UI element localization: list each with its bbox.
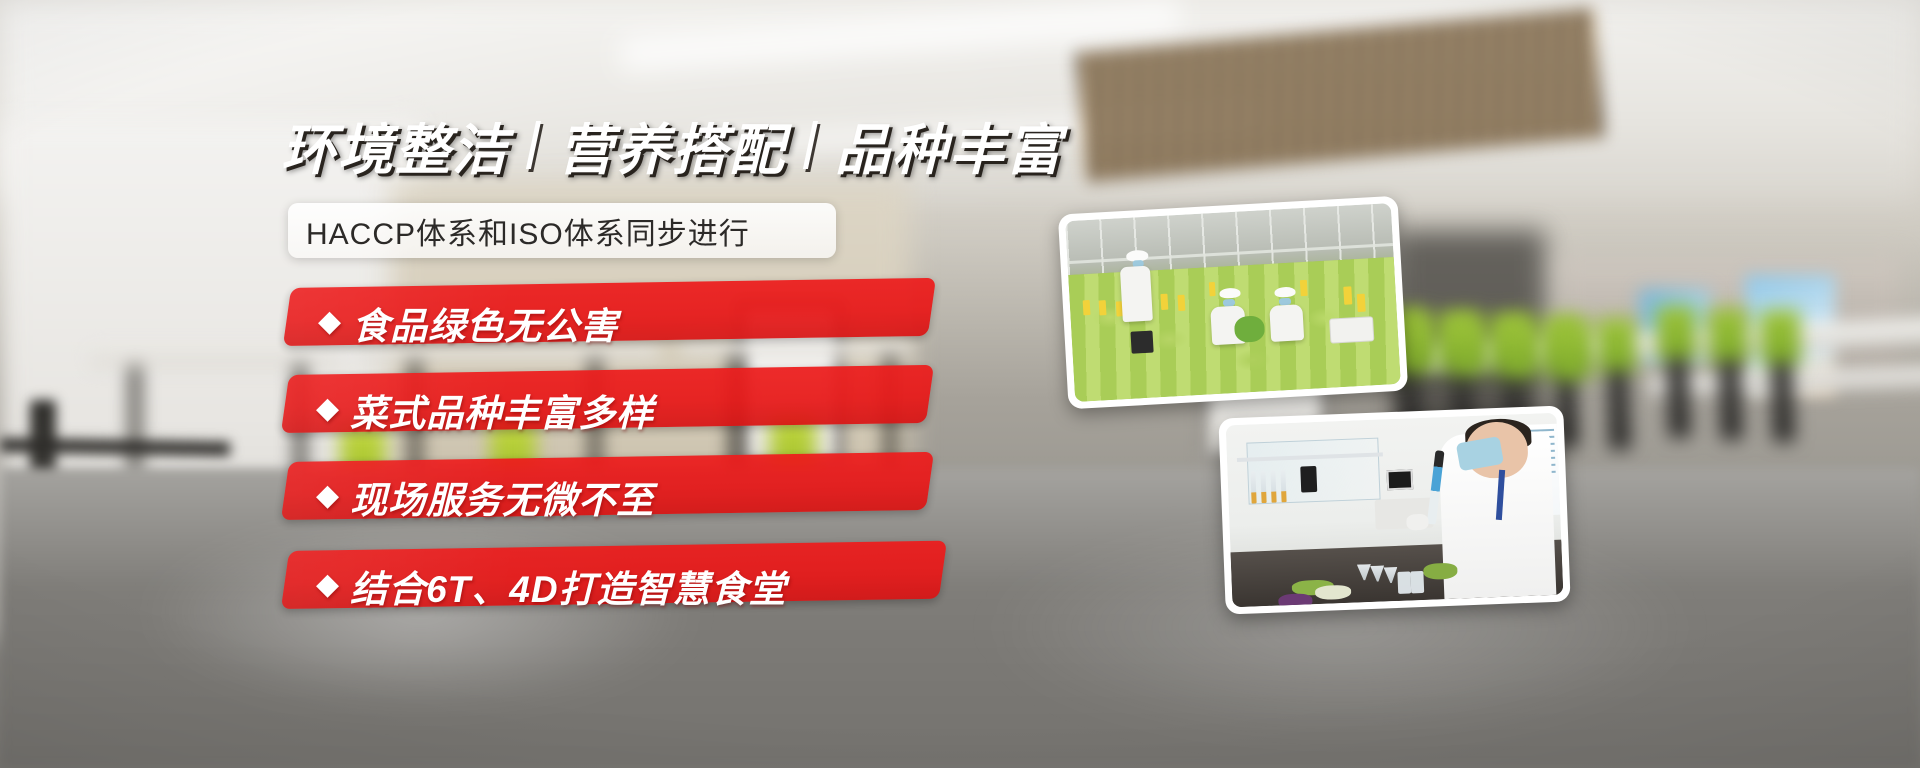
feature-item-4-label: 结合6T、4D打造智慧食堂	[350, 559, 786, 613]
diamond-bullet-icon-4: ◆	[316, 570, 340, 600]
photo-lab-testing[interactable]	[1218, 405, 1570, 614]
diamond-bullet-icon: ◆	[318, 307, 342, 337]
headline-part-2: 营养搭配	[558, 105, 786, 185]
feature-item-2[interactable]: ◆ 菜式品种丰富多样	[316, 383, 654, 437]
photo-greenhouse-image	[1065, 203, 1401, 402]
promo-banner: 环境整洁 营养搭配 品种丰富 HACCP体系和ISO体系同步进行 ◆ 食品绿色无…	[0, 0, 1920, 768]
headline-part-1: 环境整洁	[281, 105, 509, 185]
feature-item-1-label: 食品绿色无公害	[352, 296, 618, 350]
photo-greenhouse-inspection[interactable]	[1058, 196, 1408, 410]
headline-part-3: 品种丰富	[835, 105, 1063, 185]
headline-separator-icon	[526, 121, 541, 169]
banner-headline: 环境整洁 营养搭配 品种丰富	[281, 105, 1063, 185]
photo-lab-image	[1226, 413, 1564, 608]
feature-item-2-label: 菜式品种丰富多样	[350, 383, 654, 437]
diamond-bullet-icon-2: ◆	[316, 394, 340, 424]
feature-item-1[interactable]: ◆ 食品绿色无公害	[318, 296, 618, 350]
feature-item-3-label: 现场服务无微不至	[350, 470, 654, 524]
diamond-bullet-icon-3: ◆	[316, 481, 340, 511]
feature-item-3[interactable]: ◆ 现场服务无微不至	[316, 470, 654, 524]
feature-item-4[interactable]: ◆ 结合6T、4D打造智慧食堂	[316, 559, 787, 613]
banner-subtitle: HACCP体系和ISO体系同步进行	[288, 203, 836, 258]
subtitle-text: HACCP体系和ISO体系同步进行	[306, 209, 750, 253]
headline-separator-icon-2	[803, 121, 818, 169]
